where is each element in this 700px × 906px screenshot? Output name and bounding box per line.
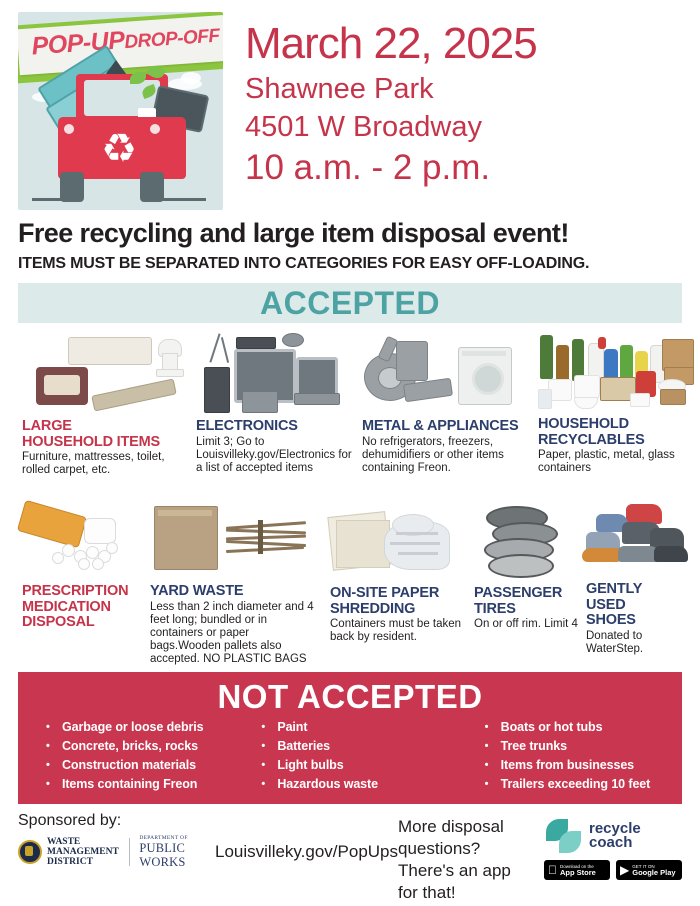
prescription-medication-photo xyxy=(16,500,146,580)
accepted-item-prescription: PRESCRIPTION MEDICATION DISPOSAL xyxy=(22,584,142,631)
metal-appliances-photo xyxy=(362,331,522,416)
accepted-item-title: METAL & APPLIANCES xyxy=(362,419,530,435)
not-accepted-item: Trailers exceeding 10 feet xyxy=(483,775,682,794)
headlight-icon xyxy=(150,124,160,134)
not-accepted-item: Construction materials xyxy=(44,756,243,775)
not-accepted-item: Concrete, bricks, rocks xyxy=(44,737,243,756)
not-accepted-item: Items from businesses xyxy=(483,756,682,775)
accepted-item-desc: No refrigerators, freezers, dehumidifier… xyxy=(362,436,530,475)
not-accepted-column-1: Garbage or loose debris Concrete, bricks… xyxy=(18,718,243,794)
accepted-item-title: ELECTRONICS xyxy=(196,419,354,435)
yard-waste-photo xyxy=(148,500,318,580)
not-accepted-section: NOT ACCEPTED Garbage or loose debris Con… xyxy=(18,672,682,804)
accepted-item-electronics: ELECTRONICS Limit 3; Go to Louisvilleky.… xyxy=(196,419,354,475)
accepted-item-title: HOUSEHOLD RECYCLABLES xyxy=(538,417,688,448)
waste-management-district-label: WASTE MANAGEMENT DISTRICT xyxy=(47,837,119,867)
recycle-coach-mark-icon xyxy=(544,816,584,856)
play-triangle-icon: ▶ xyxy=(620,864,629,876)
accepted-banner-label: ACCEPTED xyxy=(260,285,440,322)
recycle-coach-block: recycle coach  Download on the App Stor… xyxy=(544,816,682,880)
not-accepted-column-3: Boats or hot tubs Tree trunks Items from… xyxy=(459,718,682,794)
accepted-item-desc: Less than 2 inch diameter and 4 feet lon… xyxy=(150,601,318,666)
footer-right: More disposal questions? There's an app … xyxy=(398,812,682,904)
accepted-item-passenger-tires: PASSENGER TIRES On or off rim. Limit 4 xyxy=(474,586,594,631)
accepted-item-title: PASSENGER TIRES xyxy=(474,586,594,617)
recycle-icon: ♻ xyxy=(96,130,142,170)
accepted-item-household-recyclables: HOUSEHOLD RECYCLABLES Paper, plastic, me… xyxy=(538,417,688,475)
accepted-row-2: PRESCRIPTION MEDICATION DISPOSAL YARD WA… xyxy=(0,498,700,668)
footer-left: Sponsored by: WASTE MANAGEMENT DISTRICT … xyxy=(18,812,398,904)
not-accepted-column-2: Paint Batteries Light bulbs Hazardous wa… xyxy=(243,718,458,794)
app-question-text: More disposal questions? There's an app … xyxy=(398,816,530,904)
accepted-item-title: LARGE HOUSEHOLD ITEMS xyxy=(22,419,182,450)
recycle-coach-logo: recycle coach xyxy=(544,816,682,856)
not-accepted-item: Items containing Freon xyxy=(44,775,243,794)
google-play-badge[interactable]: ▶ GET IT ON Google Play xyxy=(616,860,682,880)
accepted-item-desc: Donated to WaterStep. xyxy=(586,630,696,656)
pop-up-drop-off-logo: POP-UPDROP-OFF ♻ xyxy=(18,12,223,210)
header: POP-UPDROP-OFF ♻ March 22, 2025 Shawn xyxy=(0,0,700,210)
apple-icon:  xyxy=(548,864,557,876)
accepted-item-desc: Limit 3; Go to Louisvilleky.gov/Electron… xyxy=(196,436,354,475)
accepted-item-desc: Paper, plastic, metal, glass containers xyxy=(538,449,688,475)
accepted-item-desc: Furniture, mattresses, toilet, rolled ca… xyxy=(22,451,182,477)
accepted-item-gently-used-shoes: GENTLY USED SHOES Donated to WaterStep. xyxy=(586,582,696,656)
ground-line xyxy=(32,198,72,201)
flyer-page: POP-UPDROP-OFF ♻ March 22, 2025 Shawn xyxy=(0,0,700,906)
public-works-label: DEPARTMENT OF PUBLIC WORKS xyxy=(139,835,193,869)
not-accepted-item: Hazardous waste xyxy=(259,775,458,794)
sponsored-label: Sponsored by: xyxy=(18,812,398,830)
paper-shredding-photo xyxy=(326,504,466,582)
sponsor-logos: WASTE MANAGEMENT DISTRICT DEPARTMENT OF … xyxy=(18,835,398,869)
not-accepted-item: Boats or hot tubs xyxy=(483,718,682,737)
accepted-item-title: GENTLY USED SHOES xyxy=(586,582,696,629)
not-accepted-columns: Garbage or loose debris Concrete, bricks… xyxy=(18,716,682,794)
event-time: 10 a.m. - 2 p.m. xyxy=(245,146,537,190)
accepted-item-title: ON-SITE PAPER SHREDDING xyxy=(330,586,470,617)
footer: Sponsored by: WASTE MANAGEMENT DISTRICT … xyxy=(0,804,700,904)
sponsor-divider xyxy=(129,838,130,866)
waste-management-district-seal-icon xyxy=(18,840,42,864)
not-accepted-item: Light bulbs xyxy=(259,756,458,775)
passenger-tires-photo xyxy=(472,502,582,582)
accepted-item-large-household: LARGE HOUSEHOLD ITEMS Furniture, mattres… xyxy=(22,419,182,477)
accepted-item-metal-appliances: METAL & APPLIANCES No refrigerators, fre… xyxy=(362,419,530,475)
app-store-badges:  Download on the App Store ▶ GET IT ON … xyxy=(544,860,682,880)
accepted-item-paper-shredding: ON-SITE PAPER SHREDDING Containers must … xyxy=(330,586,470,644)
recycle-coach-name: recycle coach xyxy=(589,822,641,850)
cloud-shape xyxy=(181,72,201,84)
ground-line xyxy=(158,198,206,201)
app-store-badge[interactable]:  Download on the App Store xyxy=(544,860,610,880)
accepted-item-desc: On or off rim. Limit 4 xyxy=(474,618,594,631)
not-accepted-item: Paint xyxy=(259,718,458,737)
event-date: March 22, 2025 xyxy=(245,18,537,70)
headline-text: Free recycling and large item disposal e… xyxy=(0,210,700,249)
large-household-items-photo xyxy=(30,331,190,416)
popups-url[interactable]: Louisvilleky.gov/PopUps xyxy=(215,842,398,862)
headlight-icon xyxy=(64,124,74,134)
accepted-item-title: PRESCRIPTION MEDICATION DISPOSAL xyxy=(22,584,142,631)
accepted-item-desc: Containers must be taken back by residen… xyxy=(330,618,470,644)
not-accepted-item: Garbage or loose debris xyxy=(44,718,243,737)
event-venue: Shawnee Park xyxy=(245,70,537,108)
not-accepted-item: Tree trunks xyxy=(483,737,682,756)
gently-used-shoes-photo xyxy=(578,498,698,580)
not-accepted-item: Batteries xyxy=(259,737,458,756)
accepted-item-title: YARD WASTE xyxy=(150,584,318,600)
event-address: 4501 W Broadway xyxy=(245,108,537,146)
electronics-photo xyxy=(196,331,346,416)
household-recyclables-photo xyxy=(534,323,694,418)
event-details: March 22, 2025 Shawnee Park 4501 W Broad… xyxy=(223,12,537,190)
accepted-row-1: LARGE HOUSEHOLD ITEMS Furniture, mattres… xyxy=(0,323,700,498)
logo-line-2: DROP-OFF xyxy=(124,25,220,53)
accepted-banner: ACCEPTED xyxy=(18,283,682,323)
sub-headline-text: ITEMS MUST BE SEPARATED INTO CATEGORIES … xyxy=(0,249,700,273)
accepted-item-yard-waste: YARD WASTE Less than 2 inch diameter and… xyxy=(150,584,318,666)
not-accepted-title: NOT ACCEPTED xyxy=(18,678,682,716)
